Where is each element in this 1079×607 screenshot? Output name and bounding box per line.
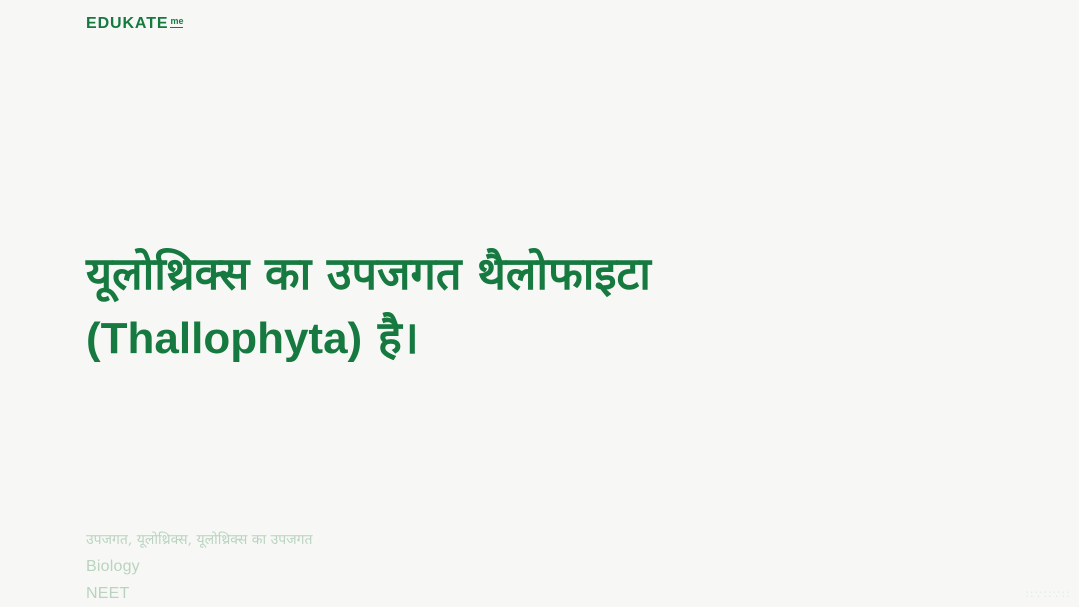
- footer-meta: उपजगत, यूलोथ्रिक्स, यूलोथ्रिक्स का उपजगत…: [86, 528, 686, 607]
- brand-logo[interactable]: EDUKATE me: [86, 16, 183, 32]
- headline-latin-term: (Thallophyta): [86, 314, 362, 363]
- headline-line-2-tail: है।: [362, 311, 419, 364]
- slide-canvas: EDUKATE me यूलोथ्रिक्स का उपजगत थैलोफाइट…: [0, 0, 1079, 607]
- brand-name: EDUKATE: [86, 16, 168, 32]
- keyword-tags: उपजगत, यूलोथ्रिक्स, यूलोथ्रिक्स का उपजगत: [86, 528, 686, 553]
- page-title: यूलोथ्रिक्स का उपजगत थैलोफाइटा (Thalloph…: [86, 242, 986, 370]
- headline-line-2: (Thallophyta) है।: [86, 306, 986, 370]
- exam-label: NEET: [86, 580, 686, 607]
- corner-watermark: ∷∵∷∵∷: [1026, 588, 1071, 601]
- headline-line-1: यूलोथ्रिक्स का उपजगत थैलोफाइटा: [86, 242, 986, 306]
- subject-label: Biology: [86, 553, 686, 580]
- brand-suffix: me: [170, 17, 183, 28]
